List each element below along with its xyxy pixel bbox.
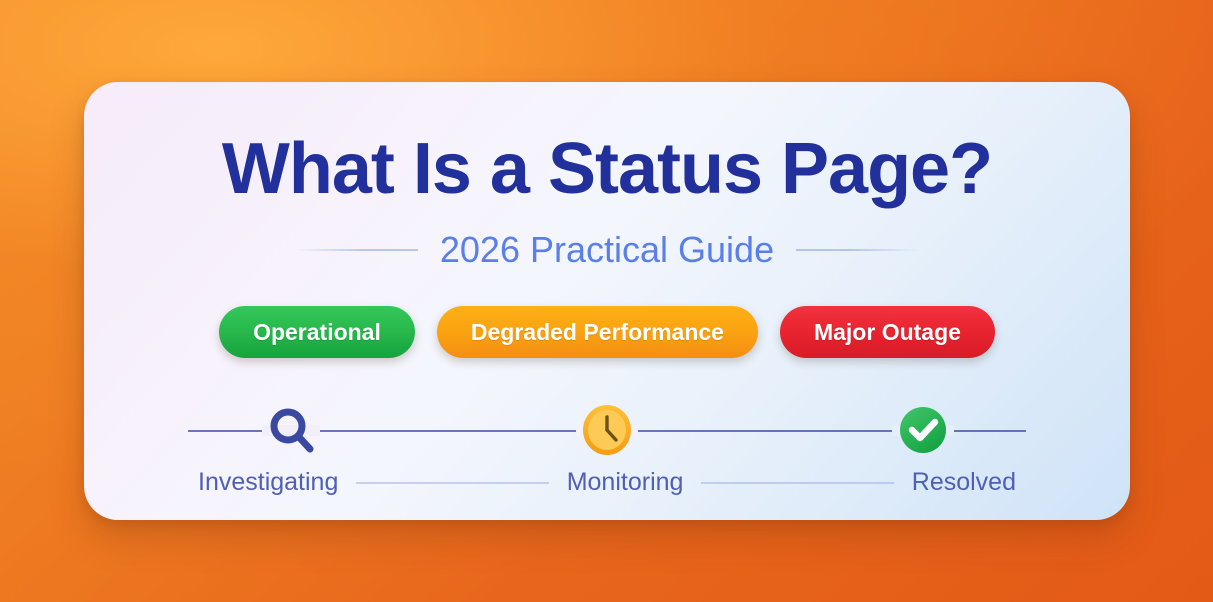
poster-background: What Is a Status Page? 2026 Practical Gu… <box>0 0 1213 602</box>
subtitle-rule-left <box>296 249 418 251</box>
page-title: What Is a Status Page? <box>84 130 1130 208</box>
status-badge-operational[interactable]: Operational <box>219 306 415 358</box>
status-pill-group: Operational Degraded Performance Major O… <box>84 306 1130 358</box>
magnifier-icon <box>260 399 322 461</box>
timeline-label-monitoring: Monitoring <box>567 468 684 497</box>
timeline-label-investigating: Investigating <box>198 468 338 497</box>
status-badge-outage[interactable]: Major Outage <box>780 306 995 358</box>
timeline-label-resolved: Resolved <box>912 468 1016 497</box>
timeline-step-resolved[interactable] <box>892 399 954 461</box>
subtitle-rule-right <box>796 249 918 251</box>
check-circle-icon <box>892 399 954 461</box>
timeline-label-row: Investigating Monitoring Resolved <box>188 468 1026 497</box>
timeline-node-row <box>188 398 1026 464</box>
timeline-step-monitoring[interactable] <box>576 399 638 461</box>
subtitle-row: 2026 Practical Guide <box>84 230 1130 270</box>
clock-icon <box>576 399 638 461</box>
timeline-label-rule-2 <box>701 482 893 484</box>
timeline-step-investigating[interactable] <box>260 399 322 461</box>
timeline-label-rule-1 <box>356 482 548 484</box>
status-badge-degraded[interactable]: Degraded Performance <box>437 306 758 358</box>
page-subtitle: 2026 Practical Guide <box>440 230 774 270</box>
incident-timeline: Investigating Monitoring Resolved <box>188 398 1026 508</box>
status-page-card: What Is a Status Page? 2026 Practical Gu… <box>84 82 1130 520</box>
